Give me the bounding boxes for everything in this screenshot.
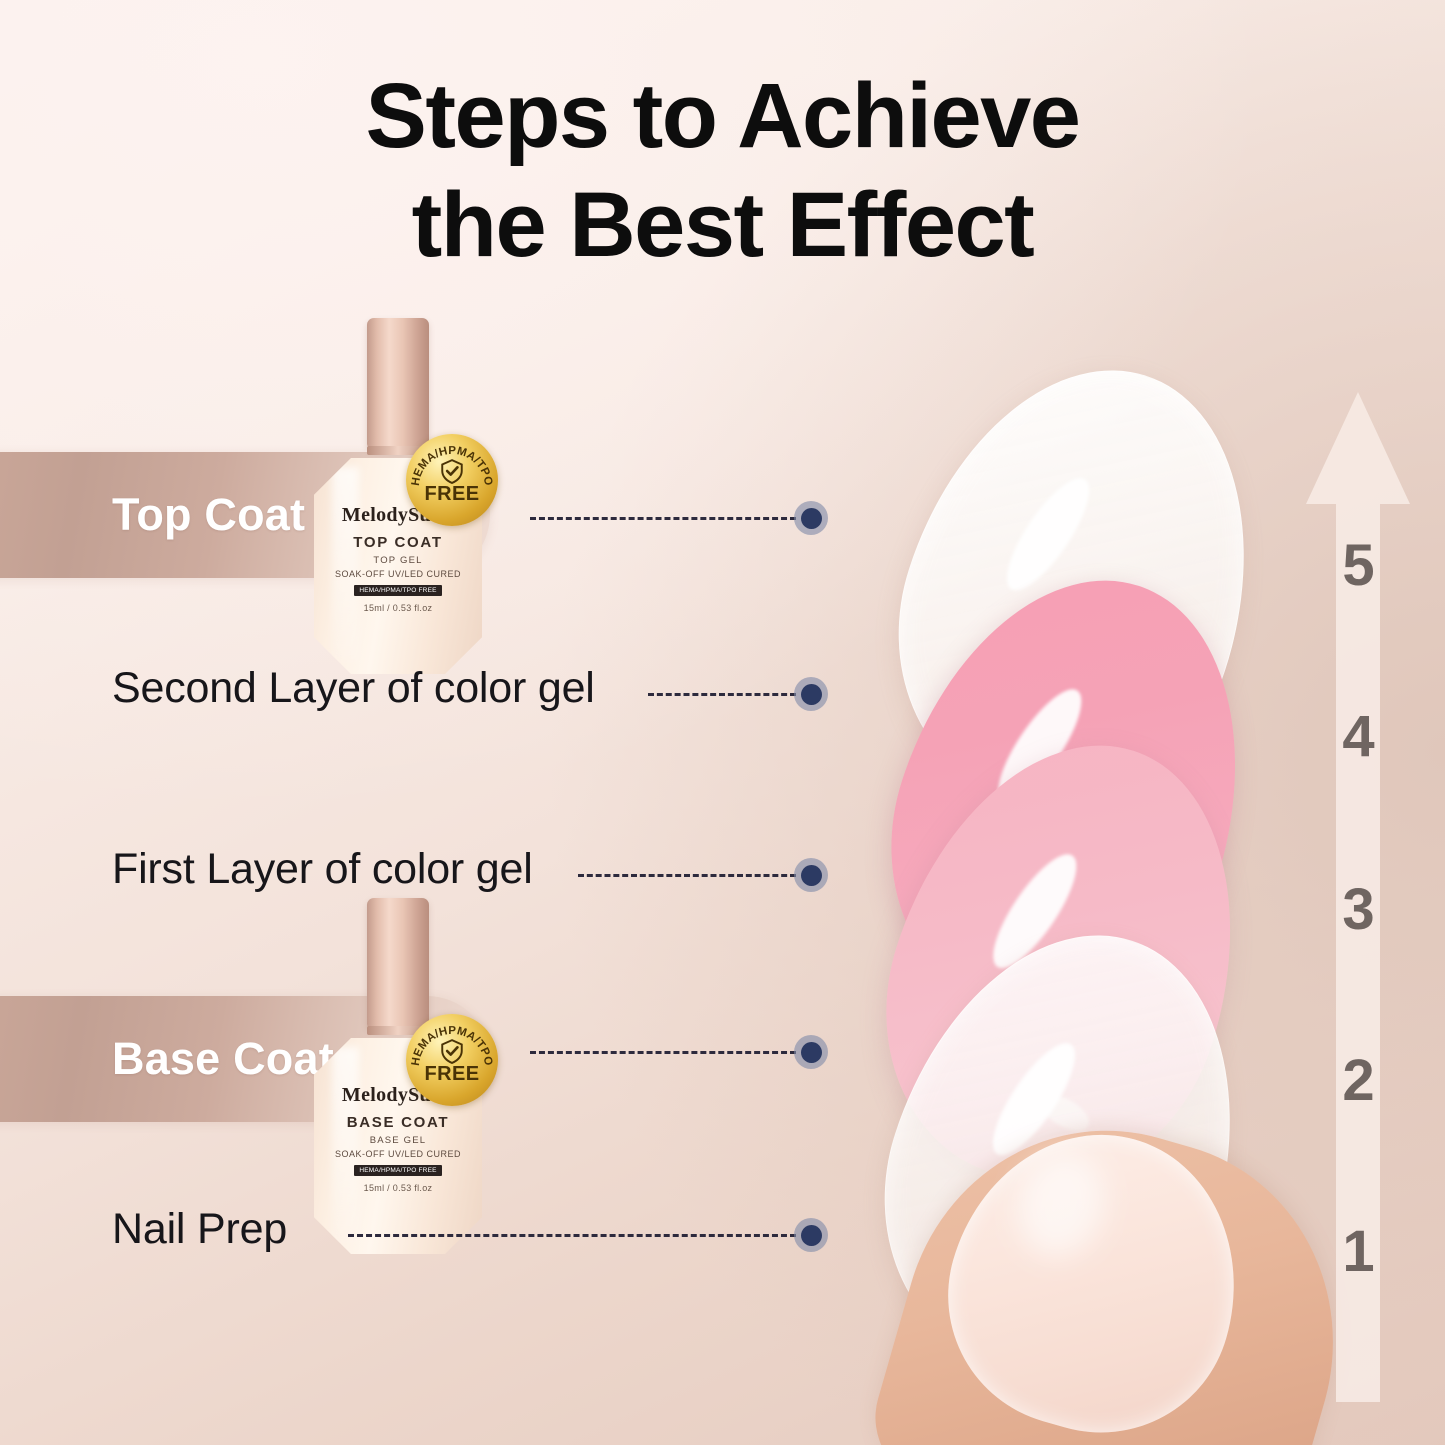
hema-free-seal-icon: HEMA/HPMA/TPO FREE (406, 1014, 498, 1106)
connector-dash (348, 1234, 796, 1237)
page-title: Steps to Achieve the Best Effect (0, 62, 1445, 279)
step-number-3: 3 (1306, 876, 1410, 943)
connector-dot (794, 858, 828, 892)
seal-free-word: FREE (406, 483, 498, 506)
check-shield-icon (439, 1038, 465, 1064)
infographic-canvas: Steps to Achieve the Best Effect Top Coa… (0, 0, 1445, 1445)
cure-info: SOAK-OFF UV/LED CURED (314, 1149, 482, 1159)
connector-dash (578, 874, 796, 877)
step-number-5: 5 (1306, 532, 1410, 599)
connector-top-coat (530, 504, 828, 532)
check-shield-icon (439, 458, 465, 484)
step-label-nail-prep: Nail Prep (112, 1205, 287, 1254)
cure-info: SOAK-OFF UV/LED CURED (314, 569, 482, 579)
connector-dash (530, 517, 796, 520)
title-line-2: the Best Effect (120, 171, 1325, 280)
connector-base-coat (530, 1038, 828, 1066)
step-number-4: 4 (1306, 703, 1410, 770)
bottle-cap (367, 898, 429, 1028)
step-label-top-coat: Top Coat (112, 489, 305, 541)
hema-free-seal-icon: HEMA/HPMA/TPO FREE (406, 434, 498, 526)
step-number-2: 2 (1306, 1047, 1410, 1114)
product-name: TOP COAT (314, 534, 482, 551)
connector-dot (794, 501, 828, 535)
bottle-top-coat: MelodySusie TOP COAT TOP GEL SOAK-OFF UV… (314, 318, 482, 674)
connector-dot (794, 1035, 828, 1069)
connector-dot (794, 677, 828, 711)
free-claim-badge: HEMA/HPMA/TPO FREE (354, 1165, 441, 1176)
connector-dash (530, 1051, 796, 1054)
connector-second-layer (648, 680, 828, 708)
connector-first-layer (578, 861, 828, 889)
step-number-1: 1 (1306, 1218, 1410, 1285)
volume-text: 15ml / 0.53 fl.oz (314, 1183, 482, 1193)
step-label-base-coat: Base Coat (112, 1033, 334, 1085)
free-claim-badge: HEMA/HPMA/TPO FREE (354, 585, 441, 596)
connector-nail-prep (348, 1221, 828, 1249)
gel-type: TOP GEL (314, 555, 482, 566)
step-label-first-layer: First Layer of color gel (112, 845, 533, 894)
gel-type: BASE GEL (314, 1135, 482, 1146)
seal-free-word: FREE (406, 1063, 498, 1086)
nail-gloss (1005, 1142, 1116, 1268)
connector-dot (794, 1218, 828, 1252)
title-line-1: Steps to Achieve (366, 65, 1080, 167)
product-name: BASE COAT (314, 1114, 482, 1131)
bottle-cap (367, 318, 429, 448)
volume-text: 15ml / 0.53 fl.oz (314, 603, 482, 613)
bottle-base-coat: MelodySusie BASE COAT BASE GEL SOAK-OFF … (314, 898, 482, 1254)
step-label-second-layer: Second Layer of color gel (112, 664, 595, 713)
connector-dash (648, 693, 796, 696)
